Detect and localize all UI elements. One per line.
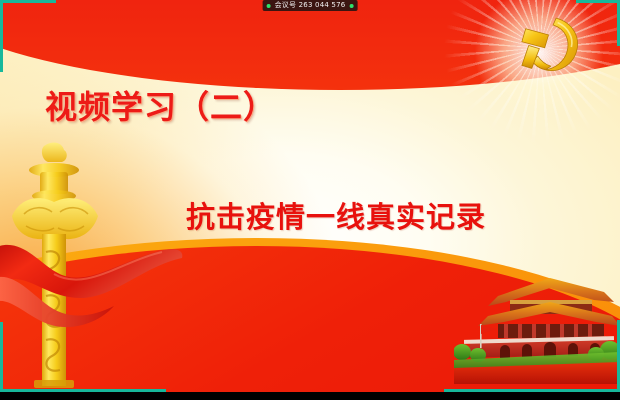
meeting-id-label-text: 会议号 <box>275 1 297 9</box>
recording-status-dot-right <box>349 4 353 8</box>
meeting-id-number: 263 044 576 <box>299 1 346 9</box>
slide-subtitle: 抗击疫情一线真实记录 <box>186 194 486 236</box>
slide-canvas: 视频学习（二） 抗击疫情一线真实记录 <box>0 0 620 392</box>
meeting-id-bar[interactable]: 会议号 263 044 576 <box>263 0 358 11</box>
slide-title: 视频学习（二） <box>45 82 276 128</box>
red-silk-ribbon-icon <box>0 232 184 344</box>
letterbox-strip-bottom <box>0 392 620 400</box>
meeting-id-label: 会议号 263 044 576 <box>275 2 346 9</box>
recording-status-dot-left <box>267 4 271 8</box>
tiananmen-gate-icon <box>454 262 620 384</box>
presentation-screen: 视频学习（二） 抗击疫情一线真实记录 会议号 263 044 576 <box>0 0 620 400</box>
party-emblem-icon <box>508 12 586 76</box>
